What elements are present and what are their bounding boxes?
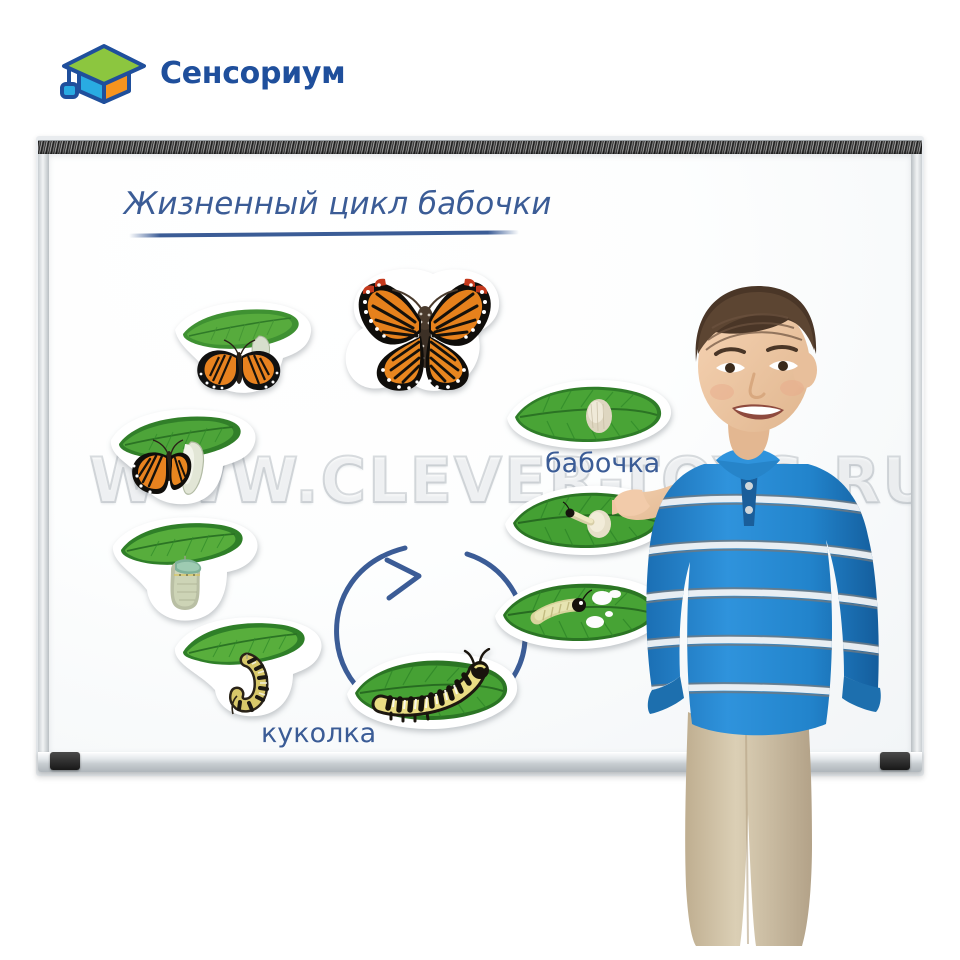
tray-end-cap-left	[50, 752, 80, 770]
brand-logo[interactable]: Сенсориум	[58, 38, 358, 108]
magnet-butterfly-emerging-from-chrysalis[interactable]	[105, 404, 263, 512]
screenshot-root: Сенсориум WWW.CLEVER-TOYS.RU Жизненный ц…	[0, 0, 960, 960]
magnet-butterfly-wings-drying-on-leaf[interactable]	[167, 296, 317, 400]
whiteboard-top-rail	[38, 140, 922, 155]
title-underline	[129, 230, 519, 237]
whiteboard-left-frame	[38, 154, 49, 754]
magnet-chrysalis-on-leaf[interactable]	[105, 512, 265, 628]
page-title: Жизненный цикл бабочки	[124, 186, 551, 222]
magnet-caterpillar-hanging-j-shape[interactable]	[169, 612, 329, 724]
label-pupa: куколка	[261, 718, 376, 749]
brand-name: Сенсориум	[160, 56, 345, 91]
boy-pointing-at-board	[612, 258, 942, 948]
magnet-monarch-butterfly[interactable]	[341, 262, 507, 408]
graduation-cap-icon	[58, 42, 146, 104]
